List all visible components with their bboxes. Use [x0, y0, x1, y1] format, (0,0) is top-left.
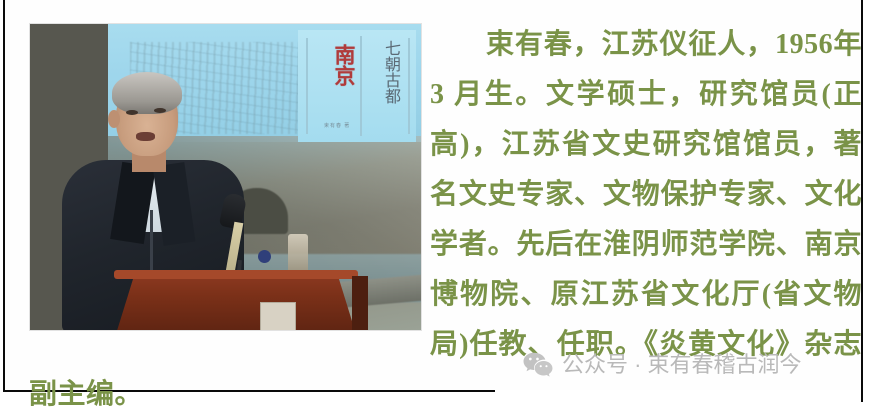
microphone-windscreen: [258, 250, 271, 263]
poster-title: 南京: [322, 44, 356, 86]
wechat-logo-icon: [523, 352, 553, 378]
speaker-photo[interactable]: 七朝古都 南京 束有春 著: [29, 23, 422, 331]
article-canvas: 束有春，江苏仪征人，1956年 3 月生。文学硕士，研究馆员(正高)，江苏省文史…: [5, 0, 861, 390]
wechat-account-label: 公众号 · 束有春稽古润今: [562, 350, 802, 380]
poster-rule: [306, 38, 308, 134]
speaker-ear: [108, 110, 120, 128]
speaker-eye-right: [154, 108, 166, 113]
page-root: 束有春，江苏仪征人，1956年 3 月生。文学硕士，研究馆员(正高)，江苏省文史…: [0, 0, 869, 402]
poster-rule: [360, 36, 362, 136]
poster-caption: 束有春 著: [324, 122, 350, 129]
wechat-attribution[interactable]: 公众号 · 束有春稽古润今: [523, 350, 802, 380]
podium-side: [352, 276, 368, 331]
speaker-hair: [112, 72, 182, 114]
podium: [116, 272, 356, 331]
podium-top: [114, 270, 358, 279]
poster-rule: [408, 38, 410, 134]
podium-plate: [260, 302, 296, 331]
speaker-eye-left: [126, 110, 138, 115]
poster-subtitle: 七朝古都: [372, 40, 402, 104]
speaker-mouth: [136, 132, 155, 141]
